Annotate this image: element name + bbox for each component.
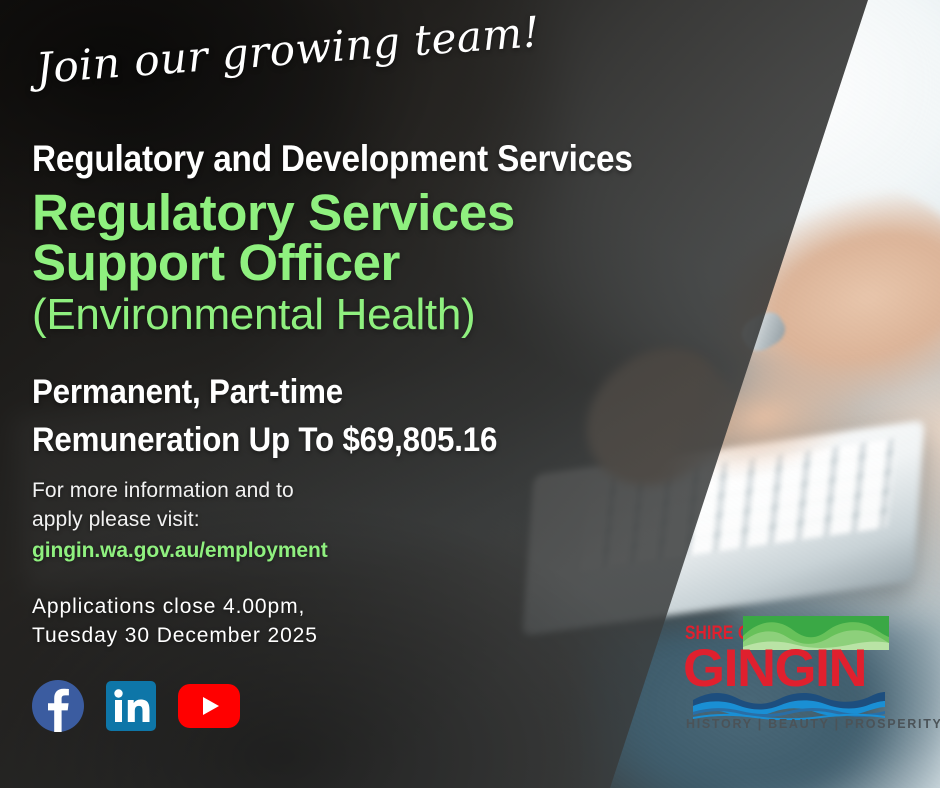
apply-instructions: For more information and to apply please… <box>32 476 328 565</box>
poster-content: Join our growing team! Regulatory and De… <box>32 0 652 788</box>
job-title-line-1: Regulatory Services <box>32 184 515 241</box>
remuneration: Remuneration Up To $69,805.16 <box>32 416 497 464</box>
logo-waves-icon <box>693 690 885 720</box>
department-title: Regulatory and Development Services <box>32 138 633 180</box>
apply-line-1: For more information and to <box>32 476 328 505</box>
employment-type: Permanent, Part-time <box>32 368 497 416</box>
apply-url-link[interactable]: gingin.wa.gov.au/employment <box>32 534 328 565</box>
youtube-icon[interactable] <box>178 684 240 728</box>
closing-time-line: Applications close 4.00pm, <box>32 592 318 621</box>
job-specialty: (Environmental Health) <box>32 290 475 340</box>
apply-line-2: apply please visit: <box>32 505 328 534</box>
linkedin-icon[interactable] <box>106 681 156 731</box>
employment-terms: Permanent, Part-time Remuneration Up To … <box>32 368 497 464</box>
closing-date-line: Tuesday 30 December 2025 <box>32 621 318 650</box>
script-tagline: Join our growing team! <box>34 7 541 93</box>
facebook-icon[interactable] <box>32 680 84 732</box>
shire-of-gingin-logo: SHIRE OF GINGIN HISTORY | BEAUTY | PROSP… <box>683 616 889 734</box>
logo-gingin-text: GINGIN <box>683 642 866 695</box>
job-advertisement-poster: Join our growing team! Regulatory and De… <box>0 0 940 788</box>
logo-tagline: HISTORY | BEAUTY | PROSPERITY <box>686 717 940 731</box>
job-title-line-2: Support Officer <box>32 238 515 288</box>
social-links <box>32 680 240 732</box>
job-title: Regulatory Services Support Officer <box>32 188 515 288</box>
closing-date: Applications close 4.00pm, Tuesday 30 De… <box>32 592 318 650</box>
